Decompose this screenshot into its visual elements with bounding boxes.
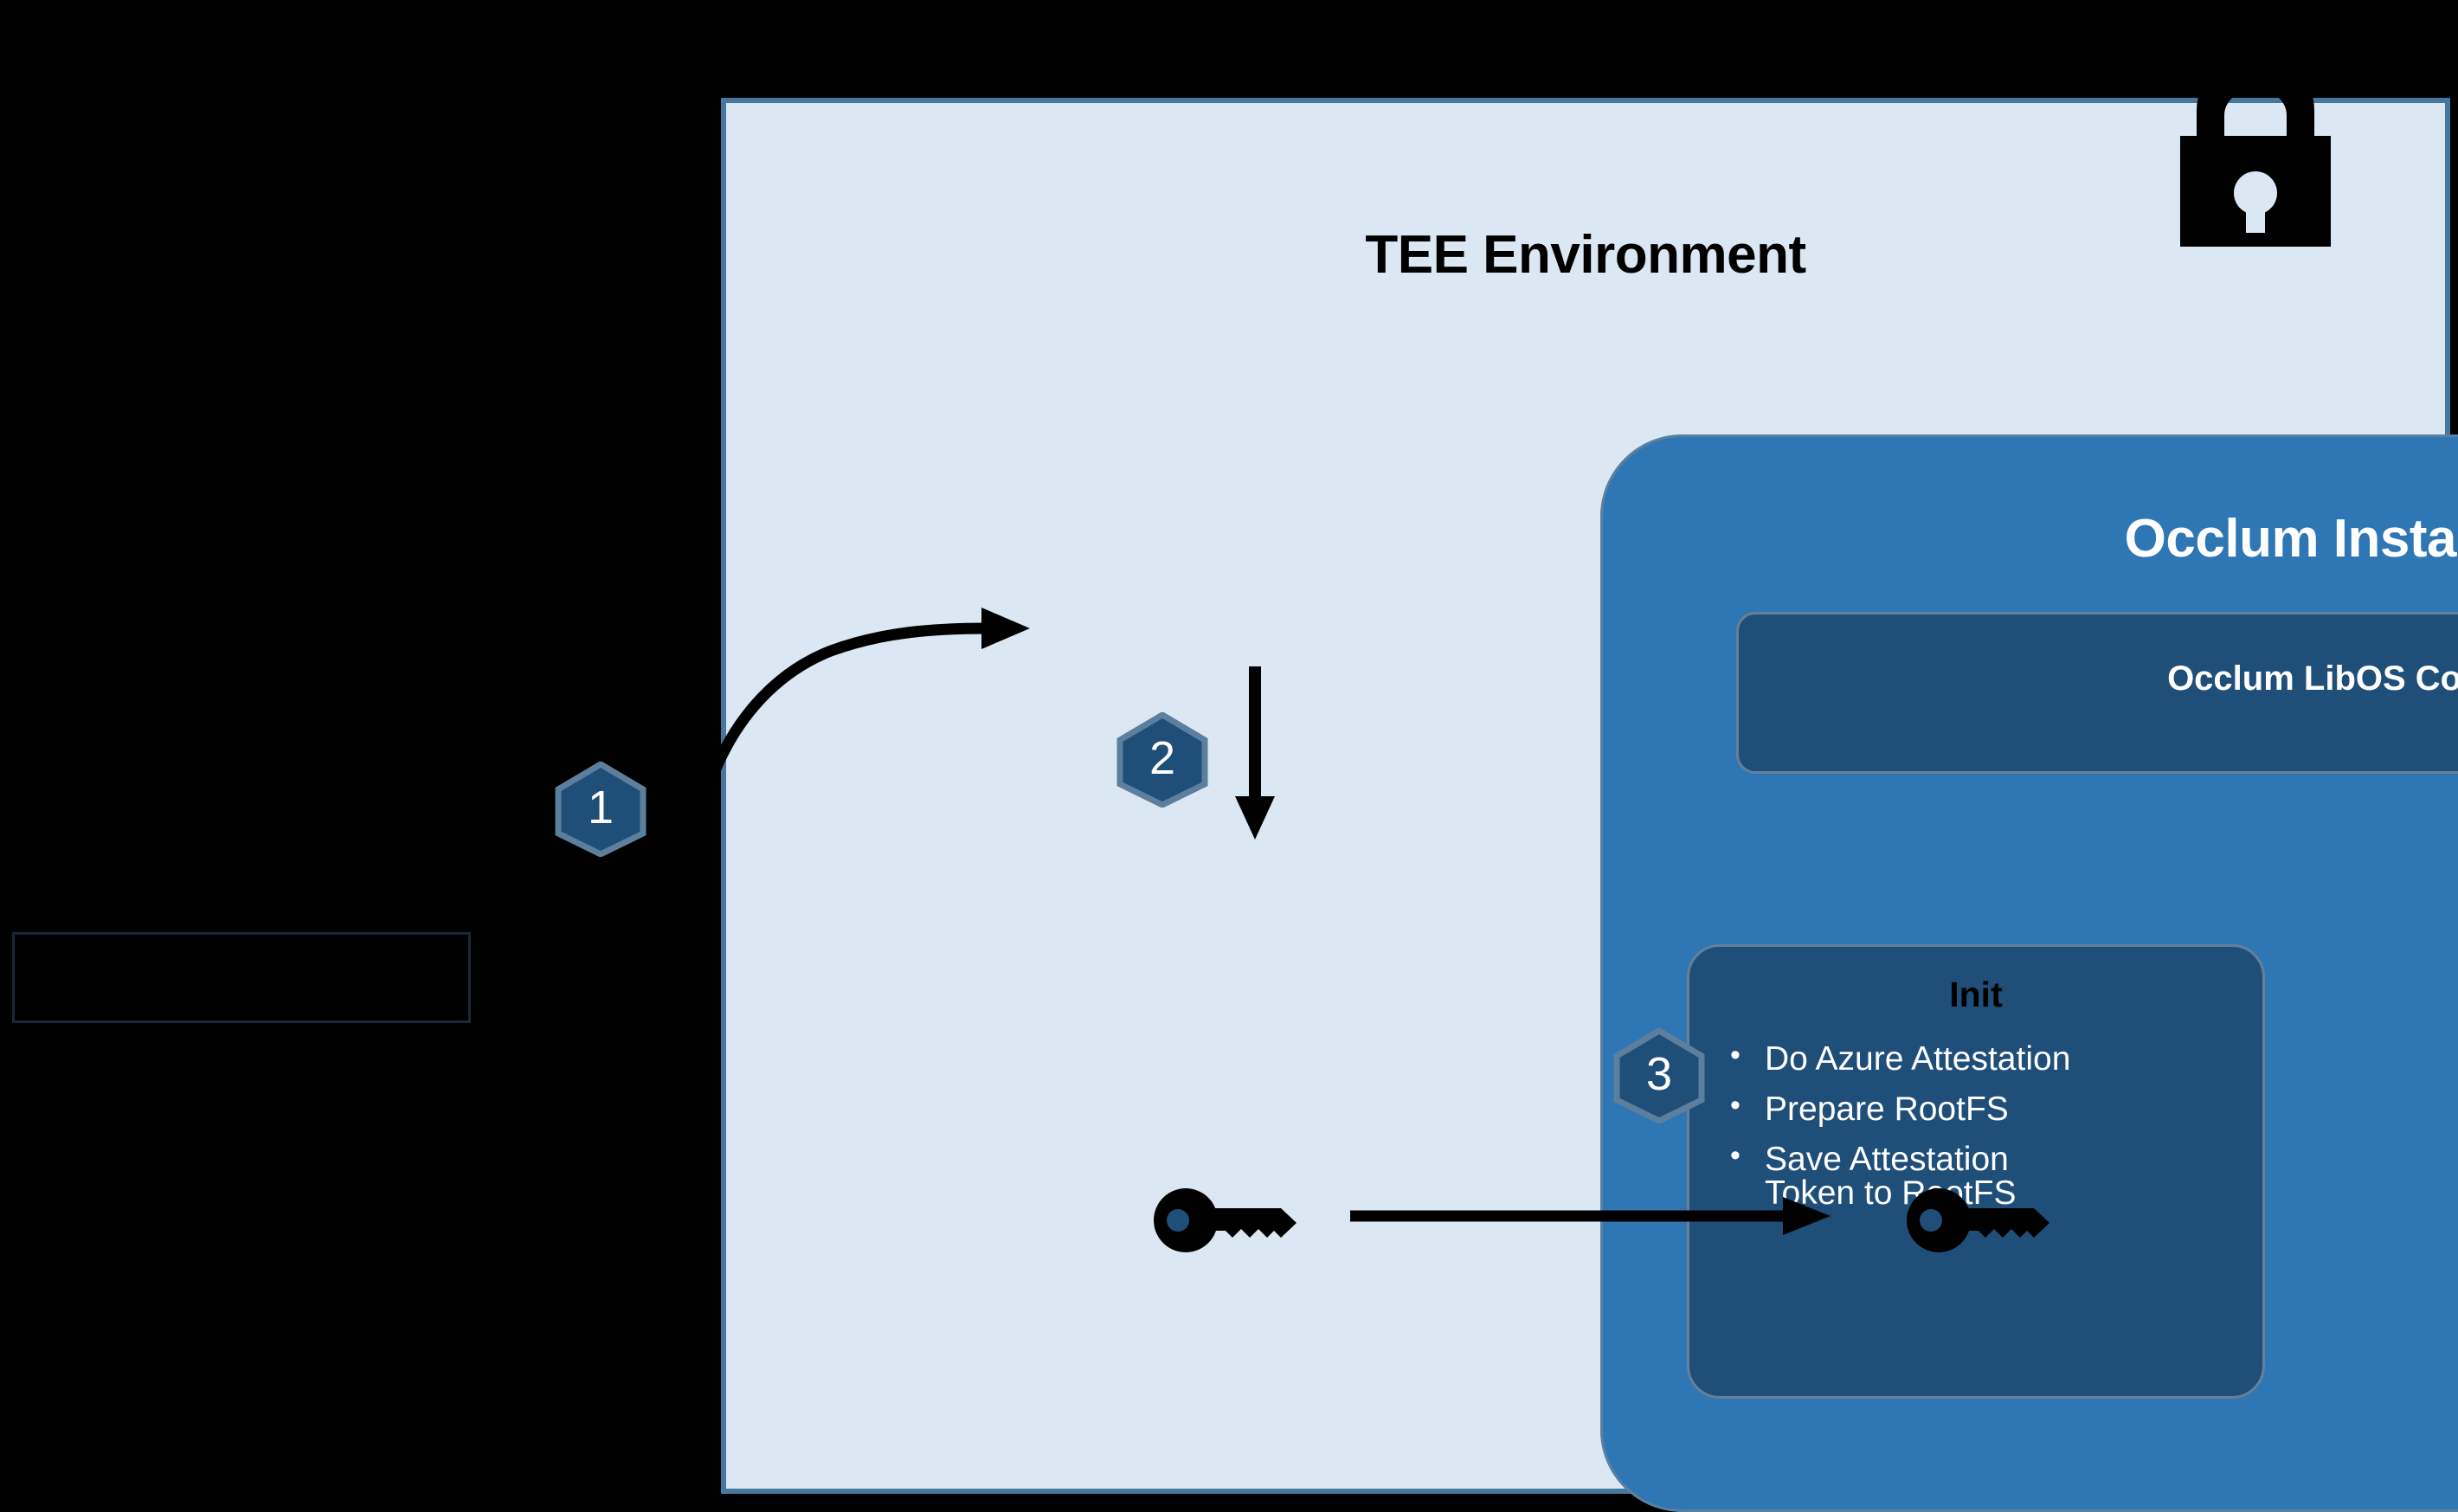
padlock-icon <box>2160 91 2351 247</box>
step-badge-number: 2 <box>1111 712 1213 807</box>
list-item: Prepare RootFS <box>1720 1092 2239 1126</box>
tee-environment-box: TEE Environment Occlum Instance Occlum L… <box>721 98 2450 1494</box>
list-item: Do Azure Attestation <box>1720 1042 2239 1076</box>
step-badge-number: 3 <box>1608 1028 1710 1123</box>
occlum-libos-core-box: Occlum LibOS Core <box>1736 612 2458 774</box>
init-title: Init <box>1689 975 2262 1015</box>
key-icon <box>1904 1187 2060 1253</box>
step-badge-2: 2 <box>1111 712 1213 807</box>
step-badge-3: 3 <box>1608 1028 1710 1123</box>
left-placeholder-box <box>12 932 471 1023</box>
occlum-instance-title: Occlum Instance <box>1600 508 2458 569</box>
init-box: Init Do Azure Attestation Prepare RootFS… <box>1687 944 2265 1399</box>
occlum-libos-core-label: Occlum LibOS Core <box>1739 659 2458 698</box>
step-badge-number: 1 <box>550 762 652 857</box>
step-badge-1: 1 <box>550 762 652 857</box>
key-icon <box>1151 1187 1307 1253</box>
diagram-canvas: TEE Environment Occlum Instance Occlum L… <box>0 0 2458 1496</box>
